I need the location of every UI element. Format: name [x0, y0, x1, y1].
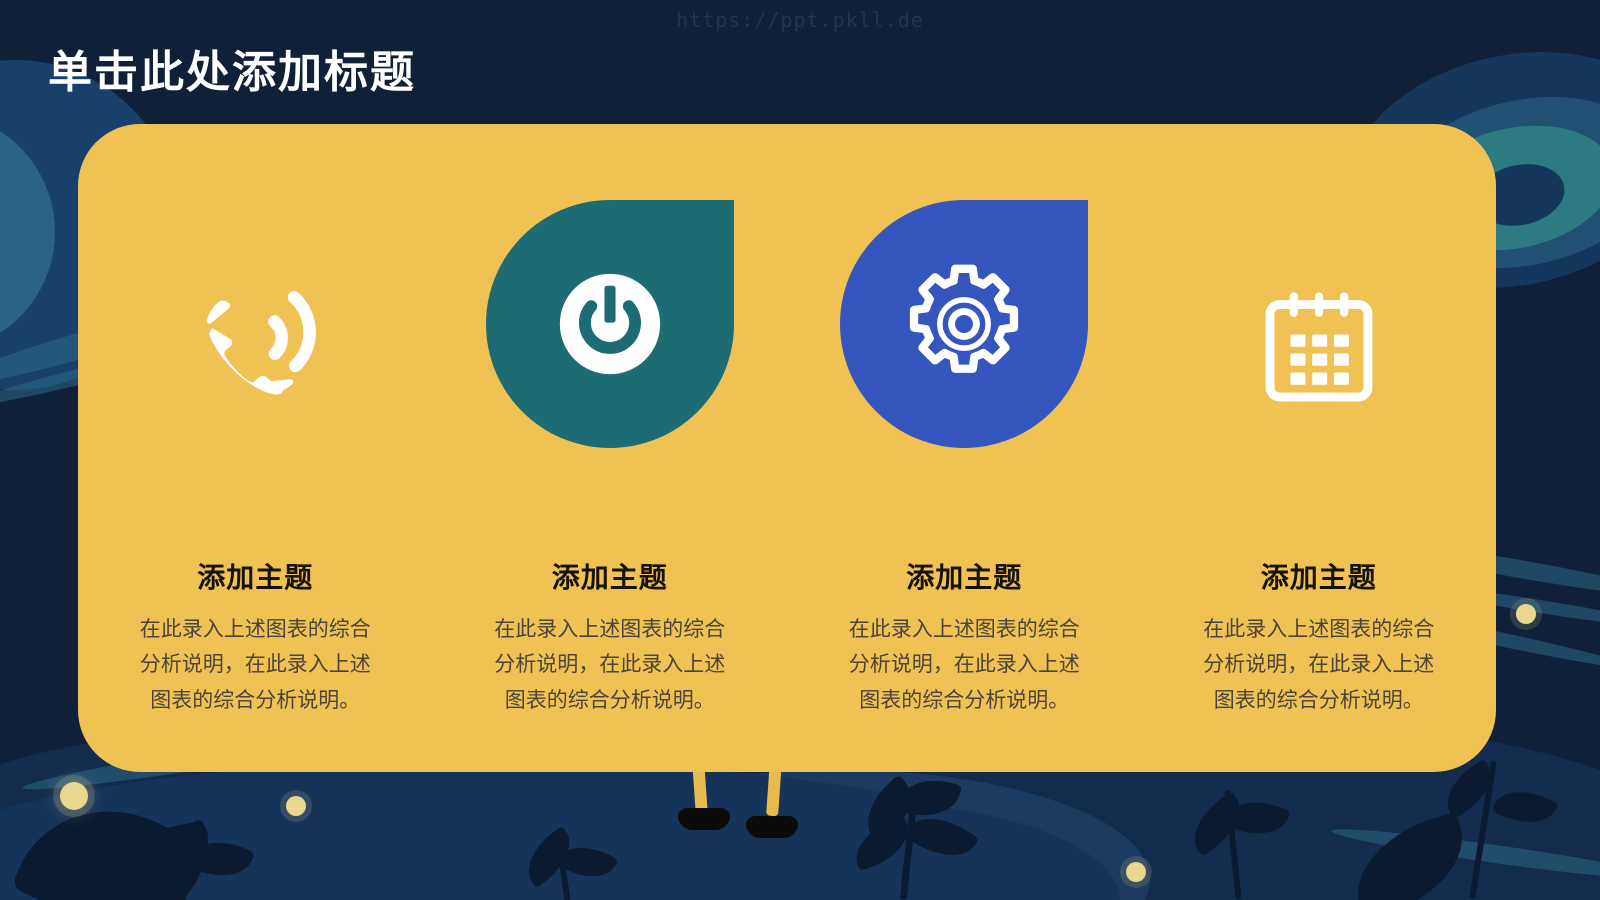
- bg-pond-outer: [530, 770, 1150, 900]
- feature-columns: 添加主题 在此录入上述图表的综合分析说明，在此录入上述图表的综合分析说明。 添加: [78, 124, 1496, 772]
- bg-wave-7: [1330, 822, 1600, 886]
- phone-icon: [131, 220, 379, 468]
- bg-plant-stem-2: [555, 835, 570, 900]
- bg-plant-stem-4: [1224, 790, 1241, 900]
- bg-plant-3: [146, 818, 223, 888]
- slide-canvas: https://ppt.pkll.de 单击此处添加标题: [0, 0, 1600, 900]
- bg-blob-left-inner: [0, 112, 55, 352]
- bg-plant-stem-5: [1469, 760, 1497, 899]
- bg-plant-4: [185, 830, 255, 888]
- column-heading-3: 添加主题: [906, 556, 1022, 596]
- bg-pond-inner: [560, 800, 1120, 900]
- bg-plant-stem-1: [177, 828, 200, 900]
- content-card: 添加主题 在此录入上述图表的综合分析说明，在此录入上述图表的综合分析说明。 添加: [78, 124, 1496, 772]
- bg-plant-10: [848, 817, 917, 871]
- feature-column-3[interactable]: 添加主题 在此录入上述图表的综合分析说明，在此录入上述图表的综合分析说明。: [787, 124, 1142, 772]
- bg-plant-stem-3: [900, 800, 917, 900]
- bg-glow-dot-1: [60, 782, 88, 810]
- icon-stage-3: [787, 124, 1142, 524]
- bg-ground-near: [0, 760, 1060, 900]
- bg-plant-14: [1492, 780, 1559, 835]
- icon-stage-4: [1142, 124, 1497, 524]
- bg-plant-8: [896, 772, 962, 825]
- bg-plant-11: [1181, 791, 1252, 857]
- calendar-icon: [1195, 220, 1443, 468]
- bg-glow-dot-2: [286, 796, 306, 816]
- page-title: 单击此处添加标题: [48, 36, 416, 100]
- column-heading-4: 添加主题: [1261, 556, 1377, 596]
- feature-column-4[interactable]: 添加主题 在此录入上述图表的综合分析说明，在此录入上述图表的综合分析说明。: [1142, 124, 1497, 772]
- watermark-url: https://ppt.pkll.de: [0, 8, 1600, 32]
- bg-plant-1: [11, 778, 180, 900]
- column-body-4: 在此录入上述图表的综合分析说明，在此录入上述图表的综合分析说明。: [1200, 612, 1438, 718]
- bg-plant-5: [516, 826, 583, 889]
- feature-column-1[interactable]: 添加主题 在此录入上述图表的综合分析说明，在此录入上述图表的综合分析说明。: [78, 124, 433, 772]
- bg-plant-6: [556, 836, 619, 888]
- bg-plant-7: [853, 774, 926, 845]
- bg-plant-2: [93, 821, 217, 900]
- bg-plant-9: [903, 803, 979, 870]
- bg-glow-dot-3: [1126, 862, 1146, 882]
- character-shoe-left: [678, 808, 730, 830]
- gear-icon: [840, 200, 1088, 448]
- icon-stage-2: [433, 124, 788, 524]
- column-heading-1: 添加主题: [197, 556, 313, 596]
- column-body-2: 在此录入上述图表的综合分析说明，在此录入上述图表的综合分析说明。: [491, 612, 729, 718]
- feature-column-2[interactable]: 添加主题 在此录入上述图表的综合分析说明，在此录入上述图表的综合分析说明。: [433, 124, 788, 772]
- column-body-3: 在此录入上述图表的综合分析说明，在此录入上述图表的综合分析说明。: [845, 612, 1083, 718]
- column-heading-2: 添加主题: [552, 556, 668, 596]
- power-icon: [486, 200, 734, 448]
- bg-plant-12: [1224, 791, 1291, 845]
- bg-glow-dot-4: [1516, 604, 1536, 624]
- icon-stage-1: [78, 124, 433, 524]
- bg-plant-15: [1341, 811, 1479, 900]
- character-shoe-right: [746, 816, 798, 838]
- column-body-1: 在此录入上述图表的综合分析说明，在此录入上述图表的综合分析说明。: [136, 612, 374, 718]
